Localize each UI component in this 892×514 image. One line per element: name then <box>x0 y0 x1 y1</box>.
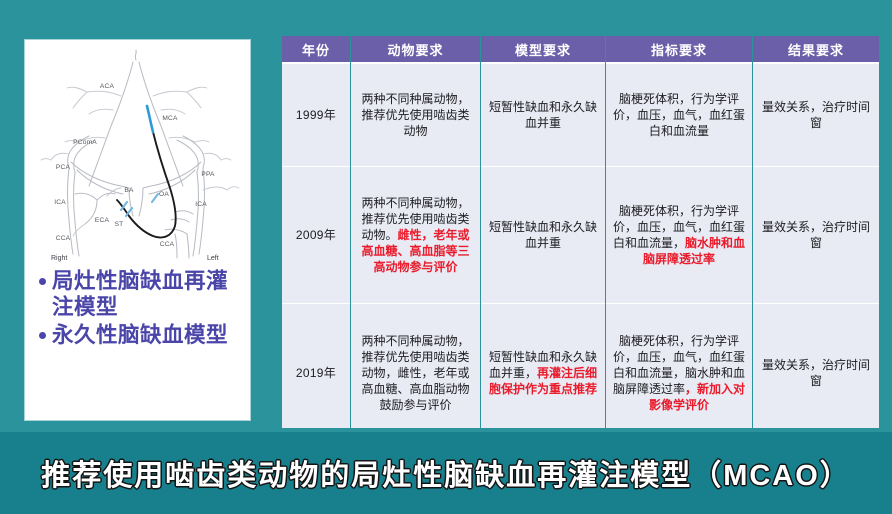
cell-year: 2019年 <box>282 303 350 442</box>
slide-root: ACA MCA PComA PCA PPA BA OA ICA ICA ECA … <box>0 0 892 514</box>
banner-caption: 推荐使用啮齿类动物的局灶性脑缺血再灌注模型（MCAO） <box>41 452 851 494</box>
cell-model: 短暂性缺血和永久缺血并重 <box>481 62 605 166</box>
cell-animal: 两种不同种属动物，推荐优先使用啮齿类动物。雌性，老年或高血糖、高血脂等三高动物参… <box>351 166 480 303</box>
mcao-suture-filament <box>117 106 176 238</box>
plain-text: 量效关系，治疗时间窗 <box>762 220 870 250</box>
table-row: 2019年 两种不同种属动物，推荐优先使用啮齿类动物，雌性，老年或高血糖、高血脂… <box>282 303 879 442</box>
table-row: 1999年 两种不同种属动物，推荐优先使用啮齿类动物 短暂性缺血和永久缺血并重 … <box>282 62 879 166</box>
label-side-right: Right <box>51 255 67 262</box>
bullet-list: 局灶性脑缺血再灌注模型 永久性脑缺血模型 <box>35 268 245 351</box>
label-st: ST <box>115 221 124 228</box>
col-header-model: 模型要求 <box>481 36 605 62</box>
plain-text: 量效关系，治疗时间窗 <box>762 100 870 130</box>
plain-text: 短暂性缺血和永久缺血并重 <box>489 100 597 130</box>
cell-animal: 两种不同种属动物，推荐优先使用啮齿类动物 <box>351 62 480 166</box>
label-side-left: Left <box>207 255 219 262</box>
table-row: 2009年 两种不同种属动物，推荐优先使用啮齿类动物。雌性，老年或高血糖、高血脂… <box>282 166 879 303</box>
cell-result: 量效关系，治疗时间窗 <box>753 62 879 166</box>
col-header-animal: 动物要求 <box>351 36 480 62</box>
left-illustration-card: ACA MCA PComA PCA PPA BA OA ICA ICA ECA … <box>25 40 250 420</box>
cell-model: 短暂性缺血和永久缺血并重，再灌注后细胞保护作为重点推荐 <box>481 303 605 442</box>
label-mca: MCA <box>162 115 178 122</box>
col-header-year: 年份 <box>282 36 350 62</box>
label-cca-left: CCA <box>160 241 175 248</box>
col-header-index: 指标要求 <box>606 36 752 62</box>
bullet-dot-icon <box>39 278 46 285</box>
label-ica-right: ICA <box>54 199 66 206</box>
requirements-table-wrap: 年份 动物要求 模型要求 指标要求 结果要求 1999年 两种不同种属动物，推荐… <box>281 36 880 420</box>
bottom-banner: 推荐使用啮齿类动物的局灶性脑缺血再灌注模型（MCAO） <box>0 432 892 514</box>
col-header-result: 结果要求 <box>753 36 879 62</box>
list-item: 局灶性脑缺血再灌注模型 <box>35 268 245 320</box>
bullet-label-1: 局灶性脑缺血再灌注模型 <box>52 268 245 320</box>
cell-animal: 两种不同种属动物，推荐优先使用啮齿类动物，雌性，老年或高血糖、高血脂动物鼓励参与… <box>351 303 480 442</box>
label-pca: PCA <box>56 164 71 171</box>
label-cca-right: CCA <box>56 235 71 242</box>
label-ba: BA <box>124 187 134 194</box>
plain-text: 两种不同种属动物，推荐优先使用啮齿类动物 <box>361 92 469 138</box>
label-ppa: PPA <box>201 171 215 178</box>
label-pcoma: PComA <box>73 139 97 146</box>
cell-result: 量效关系，治疗时间窗 <box>753 166 879 303</box>
cell-model: 短暂性缺血和永久缺血并重 <box>481 166 605 303</box>
plain-text: 量效关系，治疗时间窗 <box>762 358 870 388</box>
table-header-row: 年份 动物要求 模型要求 指标要求 结果要求 <box>282 36 879 62</box>
cell-year: 1999年 <box>282 62 350 166</box>
plain-text: 短暂性缺血和永久缺血并重 <box>489 220 597 250</box>
cell-index: 脑梗死体积，行为学评价，血压，血气，血红蛋白和血流量 <box>606 62 752 166</box>
table-body: 1999年 两种不同种属动物，推荐优先使用啮齿类动物 短暂性缺血和永久缺血并重 … <box>282 62 879 442</box>
cerebral-artery-diagram: ACA MCA PComA PCA PPA BA OA ICA ICA ECA … <box>25 44 250 266</box>
plain-text: 脑梗死体积，行为学评价，血压，血气，血红蛋白和血流量 <box>613 92 745 138</box>
list-item: 永久性脑缺血模型 <box>35 322 245 348</box>
label-oa: OA <box>159 191 169 198</box>
cell-index: 脑梗死体积，行为学评价，血压，血气，血红蛋白和血流量，脑水肿和血脑屏障透过率，新… <box>606 303 752 442</box>
cell-year: 2009年 <box>282 166 350 303</box>
cell-index: 脑梗死体积，行为学评价，血压，血气，血红蛋白和血流量，脑水肿和血脑屏障透过率 <box>606 166 752 303</box>
cell-result: 量效关系，治疗时间窗 <box>753 303 879 442</box>
label-eca: ECA <box>95 217 110 224</box>
label-ica-left: ICA <box>195 201 207 208</box>
requirements-table: 年份 动物要求 模型要求 指标要求 结果要求 1999年 两种不同种属动物，推荐… <box>281 36 880 442</box>
label-aca: ACA <box>100 83 115 90</box>
plain-text: 两种不同种属动物，推荐优先使用啮齿类动物，雌性，老年或高血糖、高血脂动物鼓励参与… <box>361 334 469 413</box>
bullet-dot-icon <box>39 332 46 339</box>
bullet-label-2: 永久性脑缺血模型 <box>52 322 228 348</box>
